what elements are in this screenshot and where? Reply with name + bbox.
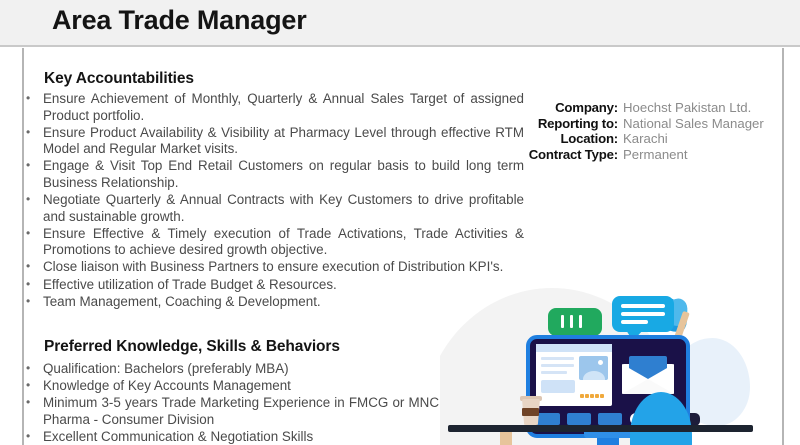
list-item: Engage & Visit Top End Retail Customers … xyxy=(24,158,524,191)
info-label: Contract Type: xyxy=(498,147,618,162)
envelope-flap-left xyxy=(622,364,648,394)
info-value: Hoechst Pakistan Ltd. xyxy=(618,100,751,115)
monitor-tab xyxy=(536,413,560,425)
bubble-line xyxy=(621,312,665,316)
desk-leg xyxy=(500,432,512,445)
thumbnail-sun xyxy=(598,360,603,365)
desk-surface xyxy=(448,425,753,432)
card-text-line xyxy=(541,364,574,367)
job-info-block: Company: Hoechst Pakistan Ltd. Reporting… xyxy=(498,100,780,162)
bullet-list-key-accountabilities: Ensure Achievement of Monthly, Quarterly… xyxy=(24,91,524,311)
card-topbar xyxy=(536,344,612,352)
list-item: Ensure Effective & Timely execution of T… xyxy=(24,226,524,259)
speech-bubble-green-icon xyxy=(548,308,602,336)
speech-bubble-blue-icon xyxy=(612,296,674,332)
page-title: Area Trade Manager xyxy=(52,5,307,36)
slide-canvas: Area Trade Manager xyxy=(0,0,800,445)
speech-bubble-green-marks xyxy=(561,315,588,333)
section-heading-key-accountabilities: Key Accountabilities xyxy=(44,70,194,88)
monitor-content-card xyxy=(536,344,612,406)
email-envelope-icon xyxy=(622,356,674,394)
list-item: Knowledge of Key Accounts Management xyxy=(24,378,439,395)
card-text-line xyxy=(541,371,567,374)
info-label: Location: xyxy=(498,131,618,146)
bubble-line xyxy=(621,304,665,308)
monitor-tab xyxy=(567,413,591,425)
info-value: Permanent xyxy=(618,147,688,162)
bubble-line xyxy=(621,320,648,324)
coffee-cup-band xyxy=(522,408,539,416)
info-row-contract-type: Contract Type: Permanent xyxy=(498,147,780,162)
list-item: Ensure Achievement of Monthly, Quarterly… xyxy=(24,91,524,124)
list-item: Excellent Communication & Negotiation Sk… xyxy=(24,429,439,445)
list-item: Ensure Product Availability & Visibility… xyxy=(24,125,524,158)
section-heading-preferred-knowledge: Preferred Knowledge, Skills & Behaviors xyxy=(44,338,340,356)
thumbnail-hill xyxy=(583,371,605,380)
list-item: Team Management, Coaching & Development. xyxy=(24,294,524,311)
card-image-thumbnail-icon xyxy=(579,356,608,380)
list-item: Qualification: Bachelors (preferably MBA… xyxy=(24,361,439,378)
monitor-tab xyxy=(598,413,622,425)
monitor-stand-neck xyxy=(597,438,619,445)
envelope-flap-right xyxy=(648,364,674,394)
info-value: National Sales Manager xyxy=(618,116,764,131)
info-row-company: Company: Hoechst Pakistan Ltd. xyxy=(498,100,780,115)
card-rating-stars-icon xyxy=(580,385,605,403)
info-row-location: Location: Karachi xyxy=(498,131,780,146)
info-label: Company: xyxy=(498,100,618,115)
list-item: Effective utilization of Trade Budget & … xyxy=(24,277,524,294)
info-label: Reporting to: xyxy=(498,116,618,131)
list-item: Close liaison with Business Partners to … xyxy=(24,259,524,276)
list-item: Negotiate Quarterly & Annual Contracts w… xyxy=(24,192,524,225)
card-text-line xyxy=(541,357,574,360)
list-item: Minimum 3-5 years Trade Marketing Experi… xyxy=(24,395,439,428)
card-block xyxy=(541,380,575,393)
header-divider xyxy=(0,45,800,47)
info-value: Karachi xyxy=(618,131,668,146)
bullet-list-preferred-knowledge: Qualification: Bachelors (preferably MBA… xyxy=(24,361,439,445)
info-row-reporting-to: Reporting to: National Sales Manager xyxy=(498,116,780,131)
